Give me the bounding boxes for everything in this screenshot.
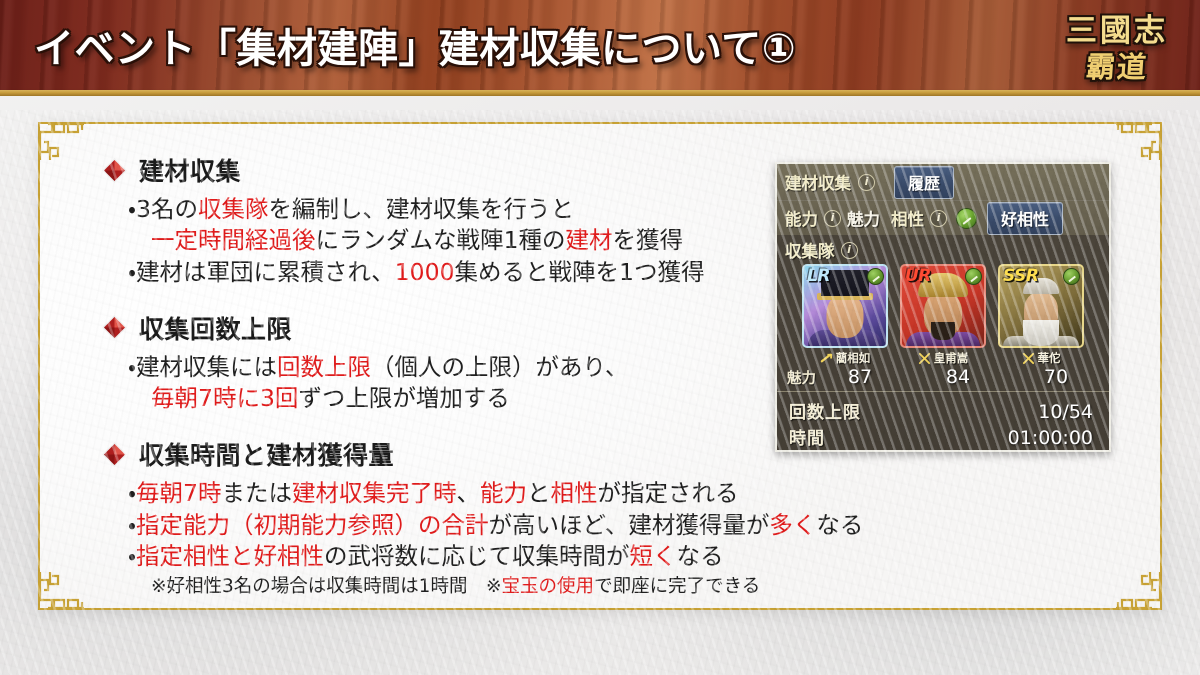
panel-attribute-row: 能力 i 魅力 相性 i 好相性 [777, 200, 1109, 235]
affinity-orb-icon [1063, 268, 1080, 285]
section-shushu-jikan: 収集時間と建材獲得量 ・毎朝7時または建材収集完了時、能力と相性が指定される ・… [102, 436, 802, 598]
hero-name: 皇甫嵩 [934, 350, 969, 366]
hero-portrait: SSR [998, 264, 1084, 348]
hero-card[interactable]: SSR 華佗 [998, 264, 1084, 366]
info-icon[interactable]: i [930, 210, 947, 227]
summary-row: 時間 01:00:00 [789, 424, 1093, 449]
stat-value: 87 [817, 366, 903, 388]
card-list: LR 藺相如 UR [777, 263, 1109, 366]
bullet-line: ・毎朝7時または建材収集完了時、能力と相性が指定される [102, 478, 802, 509]
hero-card[interactable]: LR 藺相如 [802, 264, 888, 366]
bullet-line: 一定時間経過後にランダムな戦陣1種の建材を獲得 [102, 225, 802, 256]
stat-row-label: 魅力 [787, 367, 817, 388]
bullet-line: 毎朝7時に3回ずつ上限が増加する [102, 383, 802, 414]
ability-label: 能力 [785, 206, 818, 230]
section-title: 建材収集 [139, 152, 241, 188]
rank-badge: UR [905, 266, 931, 286]
affinity-label: 相性 [891, 206, 924, 230]
section-heading: 収集回数上限 [102, 310, 802, 346]
affinity-orb-icon [965, 268, 982, 285]
header-bar: イベント「集材建陣」建材収集について① 三國志 霸道 [0, 0, 1200, 96]
team-row: 収集隊 i [777, 235, 1109, 263]
rank-badge: LR [807, 266, 830, 286]
frame-corner-ornament-bottom-left [38, 570, 92, 610]
summary-value: 19〜24 [1026, 450, 1093, 452]
summary-value: 10/54 [1038, 401, 1093, 423]
body-text: 建材収集 ・3名の収集隊を編制し、建材収集を行うと 一定時間経過後にランダムな戦… [102, 152, 802, 602]
panel-title: 建材収集 [785, 170, 851, 194]
bullet-line: ・建材収集には回数上限（個人の上限）があり、 [102, 352, 802, 383]
summary-value: 01:00:00 [1008, 427, 1093, 449]
info-icon[interactable]: i [824, 210, 841, 227]
hero-name-row: 華佗 [998, 350, 1084, 366]
section-heading: 建材収集 [102, 152, 802, 188]
brand-logo-line2: 霸道 [1049, 53, 1185, 82]
section-title: 収集時間と建材獲得量 [139, 436, 394, 472]
affinity-orb-icon [867, 268, 884, 285]
hero-portrait: UR [900, 264, 986, 348]
history-button[interactable]: 履歴 [894, 166, 954, 199]
hero-name-row: 皇甫嵩 [900, 350, 986, 366]
frame-corner-ornament-top-left [38, 122, 92, 162]
skill-cross-icon [918, 352, 931, 365]
team-label: 収集隊 [785, 238, 835, 262]
hero-name: 華佗 [1038, 350, 1061, 366]
hero-portrait: LR [802, 264, 888, 348]
section-title: 収集回数上限 [139, 310, 292, 346]
section-heading: 収集時間と建材獲得量 [102, 436, 802, 472]
rank-badge: SSR [1003, 266, 1038, 286]
page-title: イベント「集材建陣」建材収集について① [34, 16, 796, 74]
stat-row-charm: 魅力 87 84 70 [777, 366, 1109, 392]
info-icon[interactable]: i [841, 242, 858, 259]
good-affinity-button[interactable]: 好相性 [987, 202, 1063, 235]
panel-header-row: 建材収集 i 履歴 [777, 164, 1109, 200]
bullet-line: ・指定相性と好相性の武将数に応じて収集時間が短くなる [102, 541, 802, 572]
summary-key: 獲得量 [789, 451, 843, 452]
content-frame: 建材収集 ・3名の収集隊を編制し、建材収集を行うと 一定時間経過後にランダムな戦… [38, 122, 1162, 610]
diamond-bullet-icon [102, 158, 127, 183]
game-screenshot-panel: 建材収集 i 履歴 能力 i 魅力 相性 i 好相性 収集隊 i [775, 162, 1111, 452]
skill-cross-icon [1022, 352, 1035, 365]
slide-root: イベント「集材建陣」建材収集について① 三國志 霸道 [0, 0, 1200, 675]
info-icon[interactable]: i [858, 174, 875, 191]
brand-logo-line1: 三國志 [1050, 4, 1184, 47]
bullet-line: ・3名の収集隊を編制し、建材収集を行うと [102, 194, 802, 225]
frame-corner-ornament-bottom-right [1108, 570, 1162, 610]
footnote-line: ※好相性3名の場合は収集時間は1時間 ※宝玉の使用で即座に完了できる [102, 572, 802, 598]
summary-row: 獲得量 19〜24 [789, 450, 1093, 452]
diamond-bullet-icon [102, 315, 127, 340]
summary-list: 回数上限 10/54 時間 01:00:00 獲得量 19〜24 [777, 392, 1109, 452]
skill-arrow-icon [820, 352, 833, 365]
diamond-bullet-icon [102, 442, 127, 467]
summary-row: 回数上限 10/54 [789, 398, 1093, 423]
hero-card[interactable]: UR 皇甫嵩 [900, 264, 986, 366]
ability-value: 魅力 [847, 206, 880, 230]
hero-name-row: 藺相如 [802, 350, 888, 366]
section-kenzai-shushu: 建材収集 ・3名の収集隊を編制し、建材収集を行うと 一定時間経過後にランダムな戦… [102, 152, 802, 288]
brand-logo: 三國志 霸道 [1050, 4, 1184, 96]
affinity-orb-icon [956, 208, 977, 229]
hero-name: 藺相如 [836, 350, 871, 366]
stat-value: 70 [1013, 366, 1099, 388]
bullet-line: ・指定能力（初期能力参照）の合計が高いほど、建材獲得量が多くなる [102, 510, 802, 541]
bullet-line: ・建材は軍団に累積され、1000集めると戦陣を1つ獲得 [102, 257, 802, 288]
stat-value: 84 [915, 366, 1001, 388]
frame-corner-ornament-top-right [1108, 122, 1162, 162]
section-kaisuu-jougen: 収集回数上限 ・建材収集には回数上限（個人の上限）があり、 毎朝7時に3回ずつ上… [102, 310, 802, 415]
summary-key: 時間 [789, 424, 825, 449]
summary-key: 回数上限 [789, 398, 861, 423]
